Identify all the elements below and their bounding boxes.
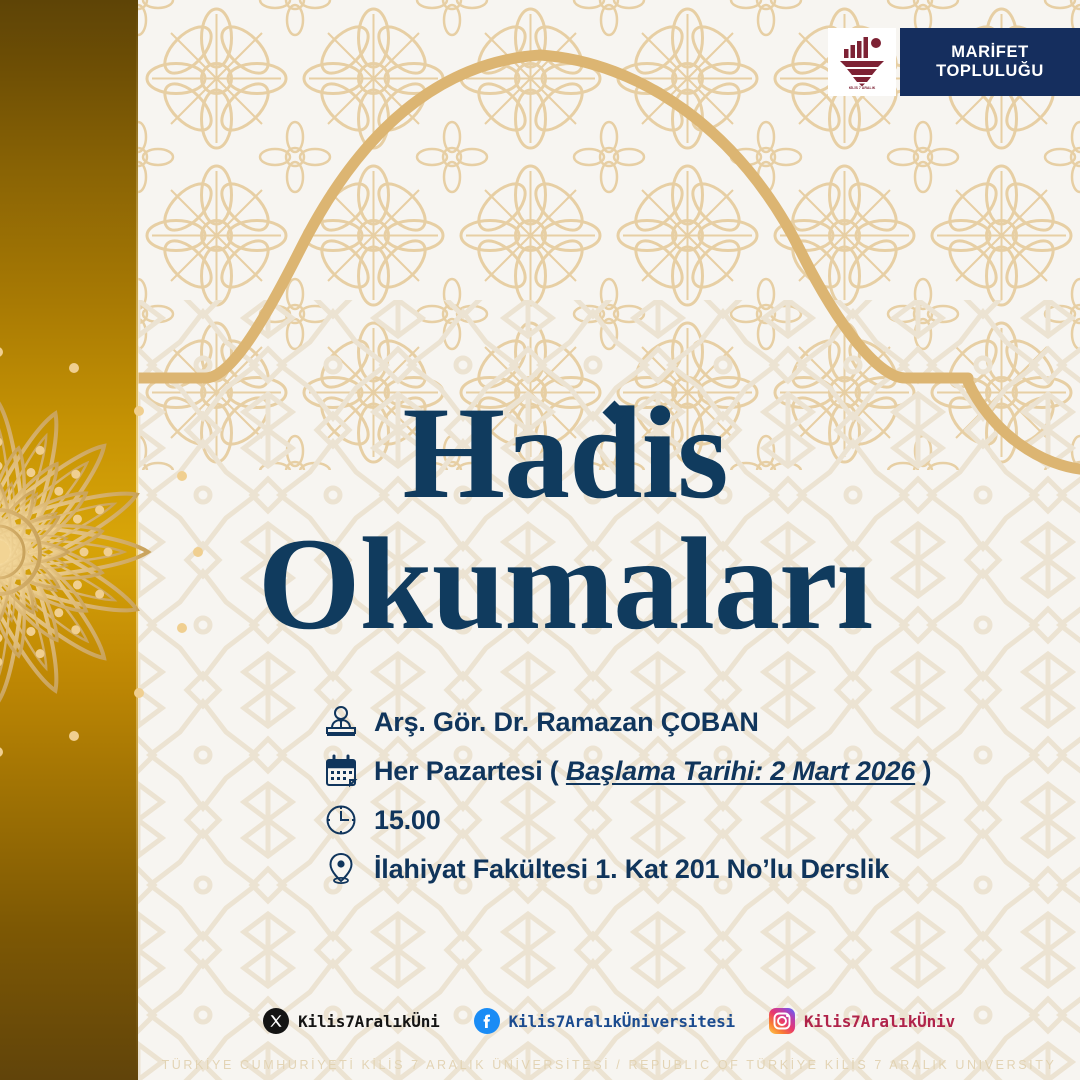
detail-row-date: Her Pazartesi ( Başlama Tarihi: 2 Mart 2… — [318, 747, 1018, 795]
event-date: Her Pazartesi ( Başlama Tarihi: 2 Mart 2… — [374, 756, 931, 787]
community-line-2: TOPLULUĞU — [936, 62, 1044, 81]
location-pin-icon — [318, 846, 364, 892]
social-item-instagram[interactable]: Kilis7AralıkÜniv — [769, 1008, 955, 1034]
poster-title: Hadis Okumaları — [150, 392, 980, 645]
title-line-1-text: Hadis — [402, 379, 727, 526]
community-banner-text: MARİFET TOPLULUĞU — [936, 43, 1044, 81]
university-logo: KİLİS 7 ARALIK — [828, 28, 896, 96]
event-start-date: Başlama Tarihi: 2 Mart 2026 — [566, 756, 915, 786]
event-time: 15.00 — [374, 805, 441, 836]
x-twitter-icon[interactable] — [263, 1008, 289, 1034]
detail-row-speaker: Arş. Gör. Dr. Ramazan ÇOBAN — [318, 698, 1018, 746]
speaker-podium-icon — [318, 699, 364, 745]
community-banner: MARİFET TOPLULUĞU — [900, 28, 1080, 96]
social-handle-x: Kilis7AralıkÜni — [298, 1012, 440, 1031]
event-location: İlahiyat Fakültesi 1. Kat 201 No’lu Ders… — [374, 854, 889, 885]
facebook-icon[interactable] — [474, 1008, 500, 1034]
event-details: Arş. Gör. Dr. Ramazan ÇOBAN — [318, 698, 1018, 894]
social-item-x[interactable]: Kilis7AralıkÜni — [263, 1008, 440, 1034]
community-line-1: MARİFET — [936, 43, 1044, 62]
calendar-icon — [318, 748, 364, 794]
event-date-suffix: ) — [915, 756, 931, 786]
instagram-icon[interactable] — [769, 1008, 795, 1034]
social-item-facebook[interactable]: Kilis7AralıkÜniversitesi — [474, 1008, 735, 1034]
speaker-name: Arş. Gör. Dr. Ramazan ÇOBAN — [374, 707, 759, 738]
footer-watermark: TÜRKİYE CUMHURİYETİ KİLİS 7 ARALIK ÜNİVE… — [138, 1050, 1080, 1080]
title-line-1: Hadis — [150, 392, 980, 513]
university-logo-mark: KİLİS 7 ARALIK — [832, 33, 892, 91]
clock-icon — [318, 797, 364, 843]
event-date-prefix: Her Pazartesi ( — [374, 756, 566, 786]
title-line-2: Okumaları — [150, 523, 980, 644]
social-handle-facebook: Kilis7AralıkÜniversitesi — [509, 1012, 735, 1031]
event-poster: KİLİS 7 ARALIK MARİFET TOPLULUĞU Hadis O… — [0, 0, 1080, 1080]
social-links: Kilis7AralıkÜni Kilis7AralıkÜniversitesi — [138, 1000, 1080, 1042]
detail-row-location: İlahiyat Fakültesi 1. Kat 201 No’lu Ders… — [318, 845, 1018, 893]
logo-caption-line1: KİLİS 7 ARALIK — [849, 86, 876, 90]
social-handle-instagram: Kilis7AralıkÜniv — [804, 1012, 955, 1031]
detail-row-time: 15.00 — [318, 796, 1018, 844]
